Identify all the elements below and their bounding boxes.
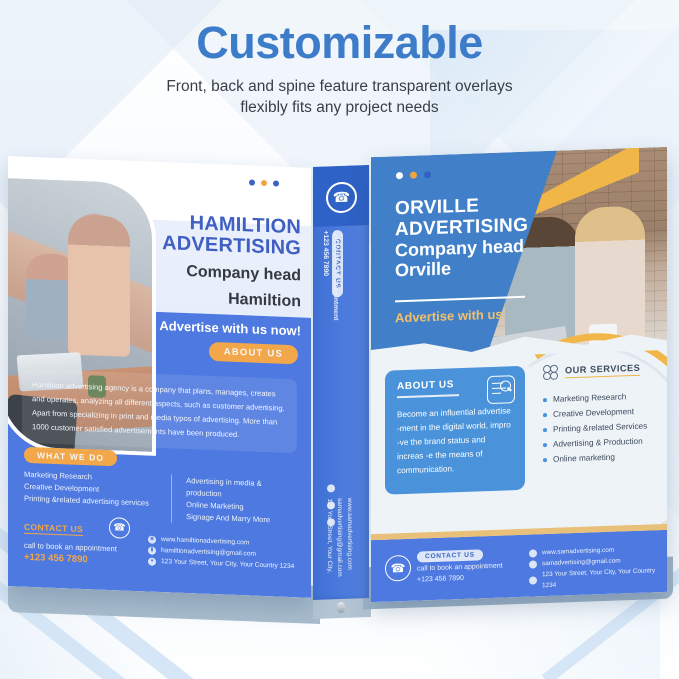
back-cover-paragraph: Hamiltion advertising agency is a compan… <box>22 369 297 454</box>
back-cover-subtitle-line1: Company head <box>113 259 301 285</box>
mail-icon <box>529 560 537 568</box>
phone-icon: ☎ <box>385 555 411 582</box>
binder-spine: ☎ CONTACT US call to book an appointment… <box>313 165 369 600</box>
info-row: 123 Your Street, Your City, Your Country… <box>529 565 667 592</box>
dot-blue-icon <box>249 179 255 185</box>
back-cover-about-button[interactable]: ABOUT US <box>209 342 298 364</box>
info-text: 123 Your Street, Your City, Your Country… <box>542 565 667 591</box>
services-list: Marketing Research Creative Development … <box>543 388 661 467</box>
front-cover-about-box: ABOUT US Become an influential advertise… <box>385 366 525 495</box>
front-cover-middle: ABOUT US Become an influential advertise… <box>371 347 667 532</box>
dot-orange-icon <box>410 172 417 179</box>
services-heading: OUR SERVICES <box>565 363 640 379</box>
headline-subtitle-line2: flexibly fits any project needs <box>240 99 438 116</box>
about-paragraph: Become an influential advertise -ment in… <box>397 404 513 478</box>
back-cover-dots <box>249 179 279 186</box>
headline-title: Customizable <box>0 16 679 70</box>
services-header: OUR SERVICES <box>543 361 661 380</box>
globe-icon: ◉ <box>148 535 156 543</box>
spine-contact-phone: +123 456 7890 <box>322 230 329 276</box>
mail-icon: ▮ <box>148 546 156 554</box>
back-cover-services-col2: Advertising in media & production Online… <box>172 474 297 527</box>
back-cover-contact: CONTACT US ☎ call to book an appointment… <box>24 517 117 567</box>
dot-orange-icon <box>261 180 267 186</box>
headline-subtitle-line1: Front, back and spine feature transparen… <box>166 78 512 95</box>
front-cover-services: OUR SERVICES Marketing Research Creative… <box>543 361 661 467</box>
spine-info-email: samadvertising@gmail.com <box>336 498 343 577</box>
back-cover-title-line2: ADVERTISING <box>113 231 301 259</box>
spine-info-address: 123 Your Street, Your City, <box>326 498 333 573</box>
back-cover-contact-label: CONTACT US <box>24 522 83 536</box>
front-cover-title: ORVILLE ADVERTISING Company head Orville <box>395 194 528 281</box>
dot-white-icon <box>396 172 403 179</box>
dot-blue-icon <box>424 171 431 178</box>
back-cover: HAMILTION ADVERTISING Company head Hamil… <box>8 156 311 598</box>
front-cover: ORVILLE ADVERTISING Company head Orville… <box>371 147 667 602</box>
back-cover-info-list: ◉ www.hamiltionadvertising.com ▮ hamilti… <box>148 534 294 573</box>
headline-block: Customizable Front, back and spine featu… <box>0 16 679 118</box>
footer-info-list: www.samadvertising.com samadvertising@gm… <box>529 543 667 592</box>
phone-icon: ☎ <box>109 517 130 539</box>
front-cover-dots <box>396 171 431 179</box>
binder: HAMILTION ADVERTISING Company head Hamil… <box>8 152 672 612</box>
globe-icon <box>529 549 537 557</box>
front-cover-hero: ORVILLE ADVERTISING Company head Orville… <box>371 147 667 360</box>
headline-subtitle: Front, back and spine feature transparen… <box>0 76 679 118</box>
dot-blue-icon <box>273 180 279 186</box>
spine-info-website: www.samadvertising.com <box>346 498 353 570</box>
footer-contact-badge: CONTACT US <box>417 549 483 562</box>
product-image-stage: Customizable Front, back and spine featu… <box>0 0 679 679</box>
back-cover-services-col1: Marketing Research Creative Development … <box>24 469 172 523</box>
spine-contact-line: call to book an appointment <box>332 230 339 321</box>
checklist-search-icon <box>487 375 515 404</box>
globe-icon <box>327 484 335 492</box>
pin-icon <box>529 576 537 584</box>
about-underline <box>397 394 459 398</box>
footer-contact-phone: +123 456 7890 <box>417 575 464 584</box>
footer-contact-line: call to book an appointment <box>417 563 503 573</box>
four-circles-icon <box>543 365 558 381</box>
back-cover-title: HAMILTION ADVERTISING Company head Hamil… <box>113 210 301 311</box>
front-cover-footer: ☎ CONTACT US call to book an appointment… <box>371 530 667 602</box>
pin-icon: ● <box>148 557 156 565</box>
